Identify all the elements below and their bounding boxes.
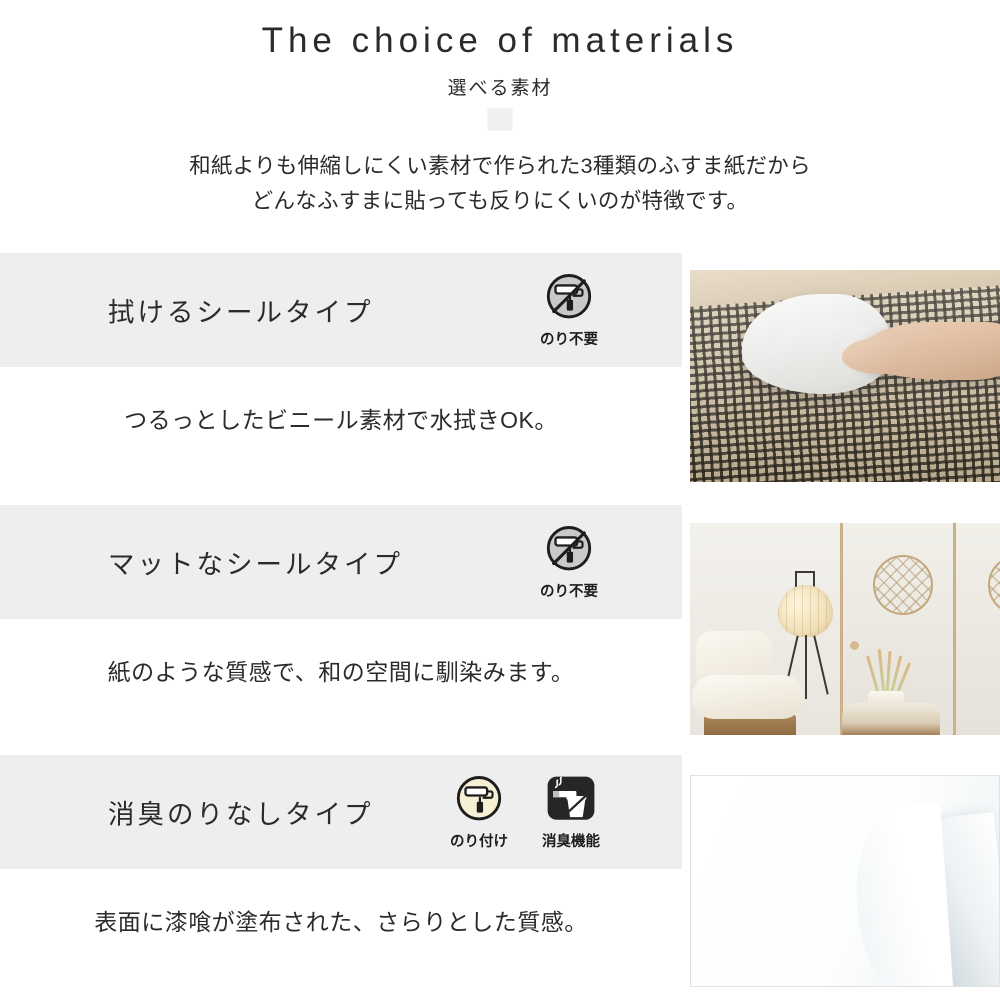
badge-glue: のり付け [440,773,518,851]
photo-shading [690,270,1000,482]
glue-roller-icon [452,773,506,827]
side-table [842,703,940,735]
badge-no-glue: のり不要 [530,271,608,349]
lamp-leg [805,635,807,699]
section-1-photo [690,270,1000,482]
section-2-band: マットなシールタイプ のり不要 [0,505,682,619]
chair-seat [692,675,804,719]
no-glue-roller-icon [542,271,596,325]
section-3-band: 消臭のりなしタイプ のり付け [0,755,682,869]
page-title: The choice of materials [0,22,1000,61]
section-2-badges: のり不要 [530,523,608,601]
page-subtitle: 選べる素材 [0,73,1000,100]
lantern-ribs [778,585,833,637]
paper-lantern-shade [778,585,833,637]
section-3-badges: のり付け 消臭機能 [440,773,610,851]
section-3-title: 消臭のりなしタイプ [108,793,374,832]
badge-no-glue-label: のり不要 [540,580,598,601]
section-1-badges: のり不要 [530,271,608,349]
section-3-photo [690,775,1000,987]
section-2-caption: 紙のような質感で、和の空間に馴染みます。 [0,653,682,687]
badge-glue-label: のり付け [450,830,508,851]
section-1-caption: つるっとしたビニール素材で水拭きOK。 [0,401,682,435]
fusuma-panel-2 [953,523,1000,735]
deodorize-icon [544,773,598,827]
page-header: The choice of materials 選べる素材 [0,0,1000,131]
lead-line-2: どんなふすまに貼っても反りにくいのが特徴です。 [0,184,1000,219]
lead-line-1: 和紙よりも伸縮しにくい素材で作られた3種類のふすま紙だから [0,149,1000,184]
section-1-band: 拭けるシールタイプ のり不要 [0,253,682,367]
section-2-title: マットなシールタイプ [108,543,403,582]
lead-paragraph: 和紙よりも伸縮しにくい素材で作られた3種類のふすま紙だから どんなふすまに貼って… [0,149,1000,220]
circular-lattice-pattern [988,555,1000,615]
no-glue-roller-icon [542,523,596,577]
section-2-photo [690,523,1000,735]
section-3-caption: 表面に漆喰が塗布された、さらりとした質感。 [0,903,682,937]
badge-no-glue: のり不要 [530,523,608,601]
badge-deodorize-label: 消臭機能 [542,830,600,851]
badge-no-glue-label: のり不要 [540,328,598,349]
title-divider-square [487,108,513,131]
door-knob [850,641,859,650]
badge-deodorize: 消臭機能 [532,773,610,851]
circular-lattice-pattern [873,555,933,615]
section-1-title: 拭けるシールタイプ [108,291,374,330]
